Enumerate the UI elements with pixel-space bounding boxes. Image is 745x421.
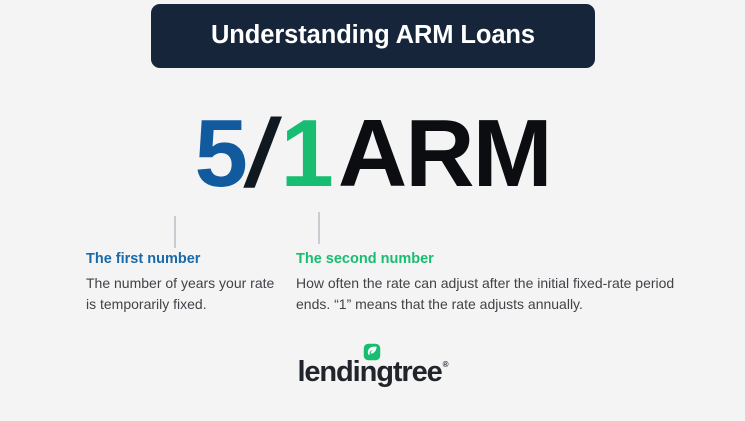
connector-line-first-number (174, 216, 176, 248)
infographic-canvas: Understanding ARM Loans 5 / 1 ARM The fi… (0, 0, 745, 421)
caption-second-heading: The second number (296, 250, 688, 268)
caption-second-number: The second number How often the rate can… (296, 250, 688, 316)
leaf-icon (363, 343, 381, 361)
caption-second-body: How often the rate can adjust after the … (296, 273, 688, 316)
headline-5-1-arm: 5 / 1 ARM (0, 104, 745, 204)
connector-line-second-number (318, 212, 320, 244)
logo-trademark: ® (443, 360, 449, 369)
brand-logo: lendingtree® (0, 358, 745, 387)
caption-first-number: The first number The number of years you… (86, 250, 286, 316)
logo-wordmark: lendingtree (297, 358, 441, 387)
page-title: Understanding ARM Loans (211, 23, 535, 49)
header-banner: Understanding ARM Loans (151, 4, 595, 68)
logo-inner: lendingtree® (297, 358, 447, 387)
caption-first-heading: The first number (86, 250, 286, 268)
headline-product-arm: ARM (332, 106, 551, 202)
headline-second-number: 1 (273, 106, 332, 202)
headline-separator-slash: / (246, 106, 273, 202)
headline-first-number: 5 (194, 106, 245, 202)
caption-first-body: The number of years your rate is tempora… (86, 273, 286, 316)
